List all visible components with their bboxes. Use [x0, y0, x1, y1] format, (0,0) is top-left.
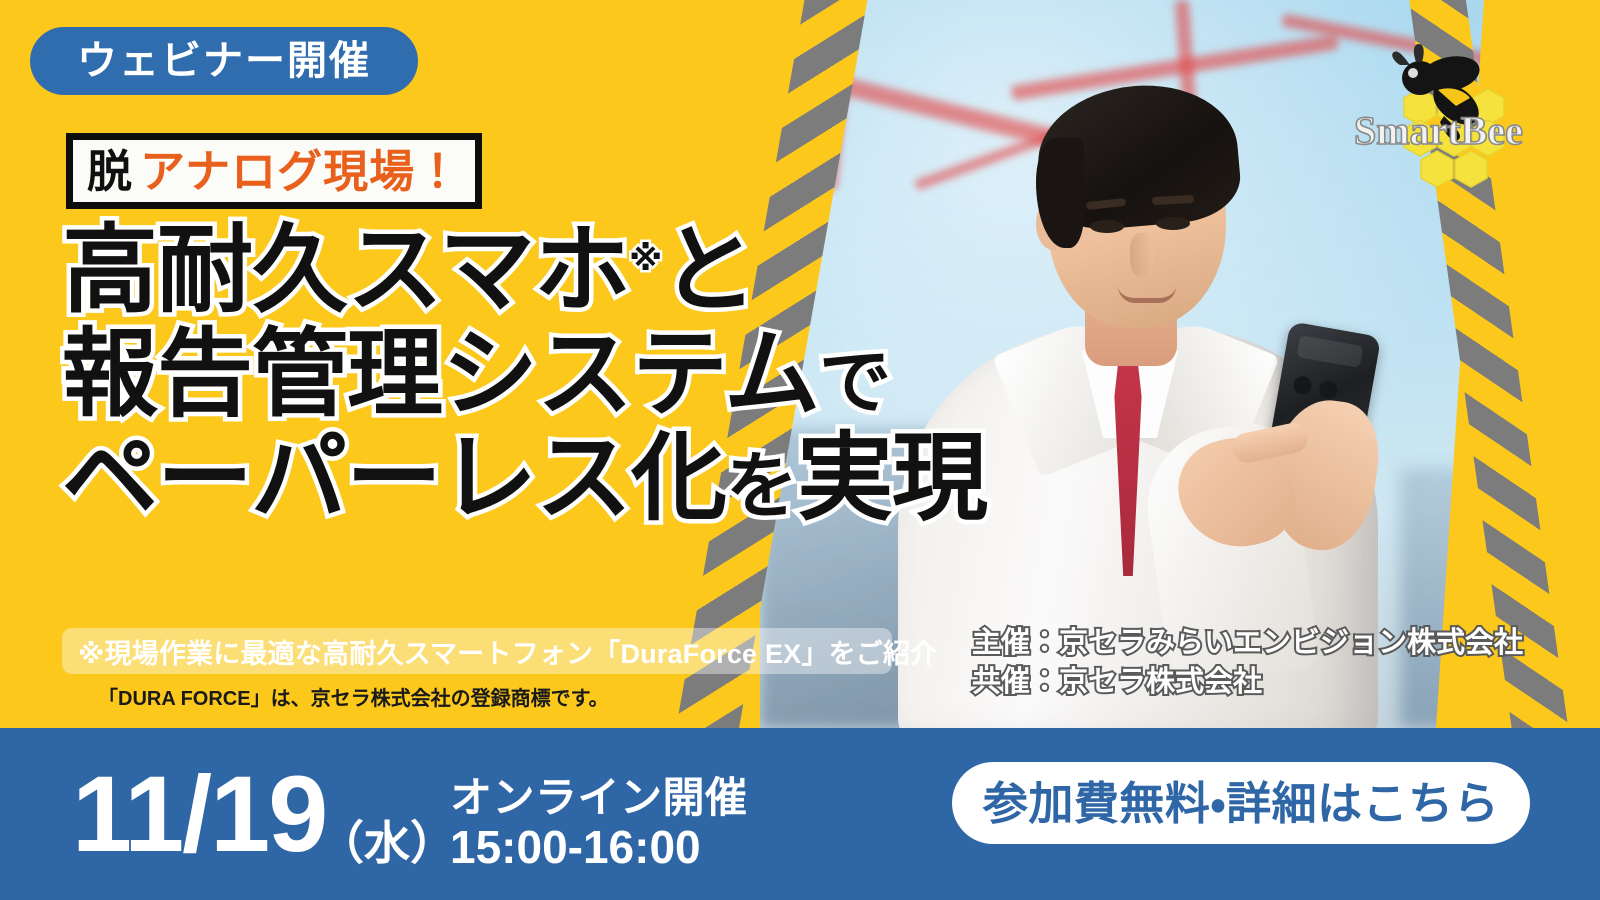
smartbee-wordmark: SmartBee	[1354, 108, 1523, 153]
main-headline: 高耐久スマホ※と 報告管理システムで ペーパーレス化を実現	[62, 222, 1122, 534]
product-footnote-text: ※現場作業に最適な高耐久スマートフォン「DuraForce EX」をご紹介	[78, 632, 937, 671]
headline-asterisk-mark: ※	[629, 240, 661, 278]
smartbee-logo: SmartBee	[1352, 32, 1542, 202]
event-date: 11/19	[72, 760, 326, 868]
worker-mouth	[1118, 286, 1176, 303]
cta-button-label: 参加費無料・詳細はこちら	[983, 781, 1499, 826]
subhead-box: 脱アナログ現場！	[66, 133, 482, 209]
headline-line3-end: 実現	[797, 425, 987, 532]
headline-line3-main: ペーパーレス化	[62, 425, 726, 532]
worker-eye-right	[1156, 217, 1190, 230]
headline-line2-main: 報告管理システム	[62, 321, 819, 428]
headline-line-3: ペーパーレス化を実現	[62, 430, 1122, 528]
headline-line1-tail: と	[661, 217, 756, 324]
organizer-host: 主催：京セラみらいエンビジョン株式会社	[972, 624, 1523, 663]
worker-nose	[1130, 233, 1154, 277]
subhead-prefix: 脱	[87, 146, 132, 197]
headline-line-1: 高耐久スマホ※と	[62, 222, 1122, 320]
organizer-cohost: 共催：京セラ株式会社	[972, 663, 1523, 702]
webinar-banner: ウェビナー開催 脱アナログ現場！ 高耐久スマホ※と 報告管理システムで ペーパー…	[0, 0, 1600, 900]
webinar-badge-label: ウェビナー開催	[77, 41, 371, 81]
headline-line1-main: 高耐久スマホ	[62, 217, 629, 324]
event-day-of-week: （水）	[318, 820, 456, 866]
cta-button[interactable]: 参加費無料・詳細はこちら	[952, 762, 1530, 844]
subhead-emphasis: アナログ現場！	[140, 146, 461, 197]
product-footnote-pill: ※現場作業に最適な高耐久スマートフォン「DuraForce EX」をご紹介	[62, 628, 892, 674]
bee-honeycomb-icon: SmartBee	[1352, 32, 1542, 202]
event-mode-label: オンライン開催	[450, 772, 748, 823]
organizer-block: 主催：京セラみらいエンビジョン株式会社 共催：京セラ株式会社	[972, 624, 1523, 703]
headline-line3-mid: を	[726, 447, 797, 527]
webinar-badge: ウェビナー開催	[30, 27, 418, 95]
event-time-label: 15:00-16:00	[450, 824, 701, 870]
headline-line-2: 報告管理システムで	[62, 326, 1122, 424]
trademark-notice: 「DURA FORCE」は、京セラ株式会社の登録商標です。	[98, 682, 609, 711]
headline-line2-tail: で	[819, 343, 890, 423]
